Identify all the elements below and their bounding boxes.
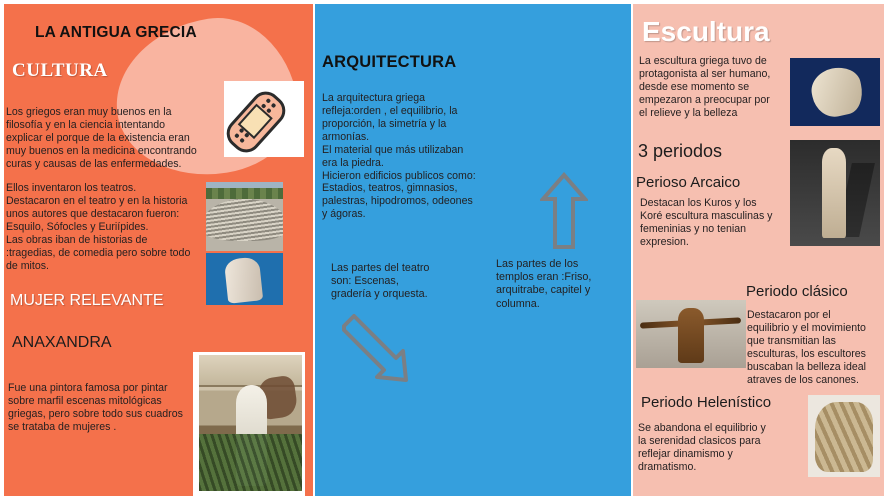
periodo-helenistico-text: Se abandona el equilibrio y la serenidad… xyxy=(638,422,798,474)
arquitectura-paragraph-1: La arquitectura griega refleja:orden , e… xyxy=(322,92,492,221)
arrow-up-icon xyxy=(540,172,588,250)
heading-arquitectura: ARQUITECTURA xyxy=(322,53,456,72)
heading-mujer-relevante: MUJER RELEVANTE xyxy=(10,292,164,310)
heading-periodo-arcaico: Perioso Arcaico xyxy=(636,174,740,191)
cultura-paragraph-2: Ellos inventaron los teatros. Destacaron… xyxy=(6,182,218,272)
heading-periodo-clasico: Periodo clásico xyxy=(746,283,848,300)
bandaid-icon-card xyxy=(224,81,304,157)
templo-partes-text: Las partes de los templos eran :Friso, a… xyxy=(496,258,631,311)
periodo-arcaico-text: Destacan los Kuros y los Koré escultura … xyxy=(640,197,792,249)
heading-3-periodos: 3 periodos xyxy=(638,141,722,162)
periodo-clasico-text: Destacaron por el equilibrio y el movimi… xyxy=(747,309,883,387)
anaxandra-painting-photo xyxy=(193,352,305,496)
bandaid-icon xyxy=(221,85,292,158)
heading-cultura: CULTURA xyxy=(12,60,108,82)
kouros-statue-photo xyxy=(790,140,880,246)
teatro-partes-text: Las partes del teatro son: Escenas, grad… xyxy=(331,262,481,302)
anaxandra-paragraph: Fue una pintora famosa por pintar sobre … xyxy=(8,382,194,434)
subject-name-anaxandra: ANAXANDRA xyxy=(12,334,112,352)
poseidon-bronze-statue-photo xyxy=(636,300,746,368)
greek-statue-blue-background-photo xyxy=(206,253,283,305)
discobolus-statue-photo xyxy=(790,58,880,126)
column-arquitectura: ARQUITECTURA La arquitectura griega refl… xyxy=(315,4,631,496)
column-cultura: LA ANTIGUA GRECIA CULTURA Los griegos er… xyxy=(4,4,313,496)
arrow-down-right-icon xyxy=(340,312,414,386)
page-title: LA ANTIGUA GRECIA xyxy=(35,24,197,42)
greek-theatre-ruins-photo xyxy=(206,182,283,251)
infographic-poster: LA ANTIGUA GRECIA CULTURA Los griegos er… xyxy=(0,0,888,500)
hellenistic-sculpture-group-photo xyxy=(808,395,880,477)
cultura-paragraph-1: Los griegos eran muy buenos en la filoso… xyxy=(6,106,220,171)
escultura-intro: La escultura griega tuvo de protagonista… xyxy=(639,55,791,120)
heading-escultura: Escultura xyxy=(642,16,770,48)
heading-periodo-helenistico: Periodo Helenístico xyxy=(641,394,771,411)
